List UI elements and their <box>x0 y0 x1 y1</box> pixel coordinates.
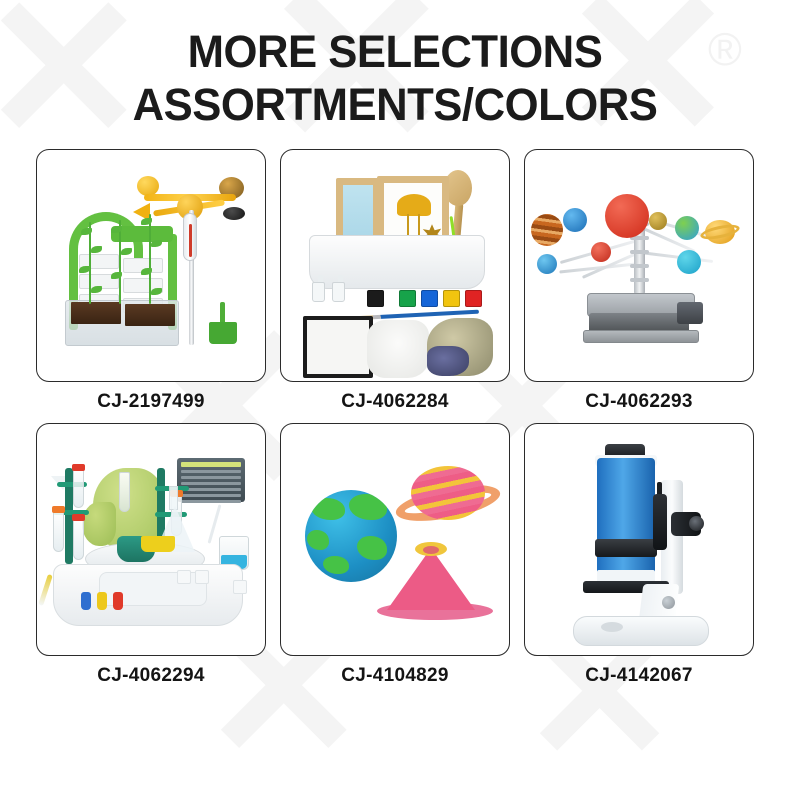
chemistry-lab-set-illustration <box>37 424 265 655</box>
product-cell[interactable]: CJ-2197499 <box>36 149 266 413</box>
product-card-image[interactable] <box>36 149 266 382</box>
product-grid: CJ-2197499 <box>36 149 754 687</box>
product-card-image[interactable] <box>524 423 754 656</box>
clay-planet-models-illustration <box>281 424 509 655</box>
product-sku: CJ-4142067 <box>524 665 754 687</box>
product-sku: CJ-4104829 <box>280 665 510 687</box>
product-card-image[interactable] <box>36 423 266 656</box>
product-cell[interactable]: CJ-4062284 <box>280 149 510 413</box>
page-title-line-1: MORE SELECTIONS <box>12 26 778 79</box>
product-card-image[interactable] <box>524 149 754 382</box>
greenhouse-weather-station-illustration <box>37 150 265 381</box>
product-sku: CJ-4062293 <box>524 391 754 413</box>
solar-system-planetarium-illustration <box>525 150 753 381</box>
product-cell[interactable]: CJ-4142067 <box>524 423 754 687</box>
product-sku: CJ-4062284 <box>280 391 510 413</box>
page-title-line-2: ASSORTMENTS/COLORS <box>12 79 778 132</box>
product-sku: CJ-4062294 <box>36 665 266 687</box>
paper-making-kit-illustration <box>281 150 509 381</box>
product-card-image[interactable] <box>280 149 510 382</box>
product-cell[interactable]: CJ-4062294 <box>36 423 266 687</box>
product-cell[interactable]: CJ-4062293 <box>524 149 754 413</box>
product-cell[interactable]: CJ-4104829 <box>280 423 510 687</box>
page-title: MORE SELECTIONS ASSORTMENTS/COLORS <box>0 0 790 131</box>
product-sku: CJ-2197499 <box>36 391 266 413</box>
microscope-illustration <box>525 424 753 655</box>
product-card-image[interactable] <box>280 423 510 656</box>
